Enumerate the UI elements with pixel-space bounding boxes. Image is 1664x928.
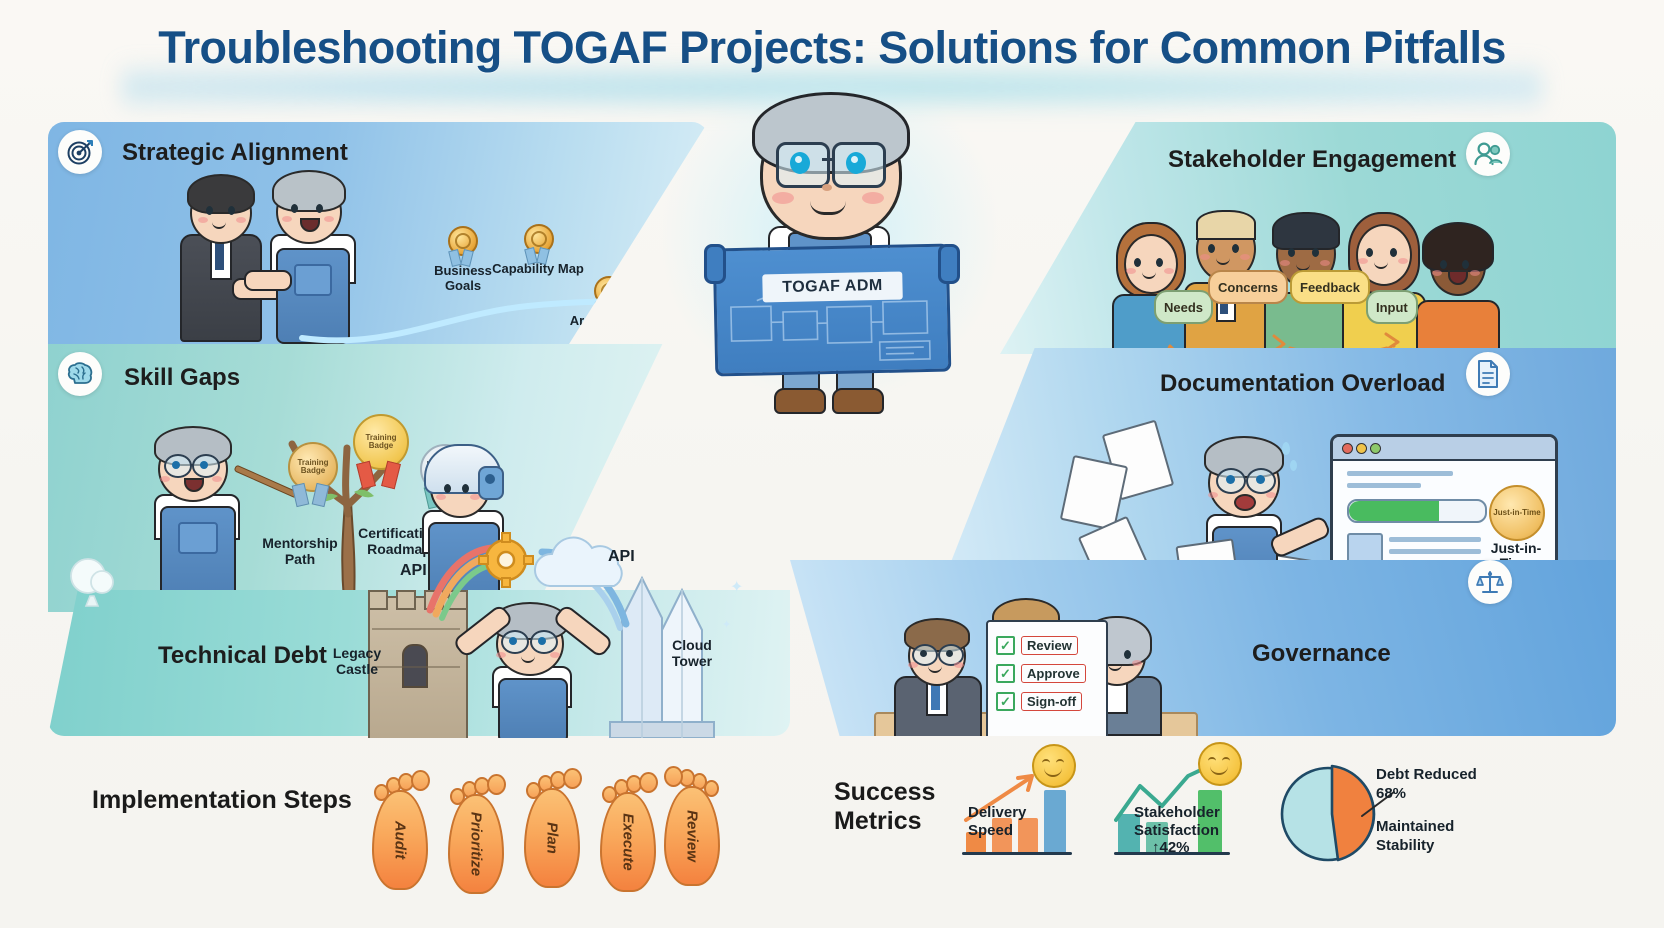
label-cloud-tower: Cloud Tower	[656, 638, 728, 669]
blueprint-label: TOGAF ADM	[782, 277, 883, 297]
target-icon	[58, 130, 102, 174]
window-close-dot[interactable]	[1342, 443, 1353, 454]
window-minimize-dot[interactable]	[1356, 443, 1367, 454]
checkbox-checked-icon: ✓	[996, 636, 1015, 655]
label-legacy-castle: Legacy Castle	[322, 646, 392, 677]
mentor-figure	[128, 422, 268, 602]
pie-label-maintained-stability: Maintained Stability	[1376, 818, 1454, 856]
technical-debt-artwork: ✦ ✦	[280, 532, 800, 738]
label-delivery-speed: Delivery Speed	[968, 804, 1042, 839]
panel-title-skill-gaps: Skill Gaps	[124, 364, 240, 392]
success-metrics-label-line1: Success	[834, 778, 935, 807]
bubble-feedback: Feedback	[1290, 270, 1370, 304]
scales-icon	[1468, 560, 1512, 604]
chart-delivery-speed: Delivery Speed	[962, 756, 1078, 864]
panel-title-documentation-overload: Documentation Overload	[1160, 370, 1445, 398]
label-stakeholder-satisfaction: Stakeholder Satisfaction ↑42%	[1134, 804, 1230, 857]
label-api-left: API	[400, 562, 427, 580]
panel-strategic-alignment[interactable]: Business Goals Capability Map Architectu…	[48, 122, 708, 354]
blueprint: TOGAF ADM	[713, 244, 952, 377]
checkbox-checked-icon: ✓	[996, 692, 1015, 711]
satisfaction-delta: ↑42%	[1134, 839, 1230, 857]
pie-label-debt-reduced: Debt Reduced 68%	[1376, 766, 1477, 804]
page-title-area: Troubleshooting TOGAF Projects: Solution…	[0, 22, 1664, 74]
success-metrics-label: Success Metrics	[834, 778, 935, 836]
chart-stakeholder-satisfaction: Stakeholder Satisfaction ↑42%	[1114, 756, 1242, 864]
just-in-time-seal: Just-in-Time	[1489, 485, 1545, 541]
infographic-canvas: Troubleshooting TOGAF Projects: Solution…	[0, 0, 1664, 928]
approval-checklist: ✓ Review ✓ Approve ✓ Sign-off	[986, 620, 1108, 736]
progress-fill	[1349, 501, 1439, 521]
center-architect: TOGAF ADM	[640, 80, 1020, 420]
page-title: Troubleshooting TOGAF Projects: Solution…	[0, 22, 1664, 74]
success-metrics-label-line2: Metrics	[834, 807, 935, 836]
panel-documentation-overload[interactable]: Documentation Overload	[940, 348, 1616, 590]
checklist-item-signoff: ✓ Sign-off	[996, 692, 1106, 711]
panel-title-governance: Governance	[1252, 640, 1391, 668]
checklist-item-review: ✓ Review	[996, 636, 1106, 655]
checkbox-checked-icon: ✓	[996, 664, 1015, 683]
window-maximize-dot[interactable]	[1370, 443, 1381, 454]
progress-bar	[1347, 499, 1487, 523]
bubble-concerns: Concerns	[1208, 270, 1288, 304]
tree-decoration	[62, 548, 118, 608]
people-icon	[1466, 132, 1510, 176]
brain-icon	[58, 352, 102, 396]
chart-debt-pie	[1276, 762, 1380, 871]
board-member-1	[888, 612, 984, 722]
panel-title-strategic-alignment: Strategic Alignment	[122, 139, 348, 167]
document-icon	[1466, 352, 1510, 396]
implementation-steps-label: Implementation Steps	[92, 786, 352, 815]
smiley-icon-satisfaction	[1198, 742, 1242, 786]
smiley-icon-delivery	[1032, 744, 1076, 788]
panel-title-stakeholder-engagement: Stakeholder Engagement	[1168, 146, 1456, 174]
panel-stakeholder-engagement[interactable]: Stakeholder Engagement	[1000, 122, 1616, 354]
checklist-item-approve: ✓ Approve	[996, 664, 1106, 683]
bridge-builder-figure	[456, 590, 606, 738]
label-api-right: API	[608, 548, 635, 566]
